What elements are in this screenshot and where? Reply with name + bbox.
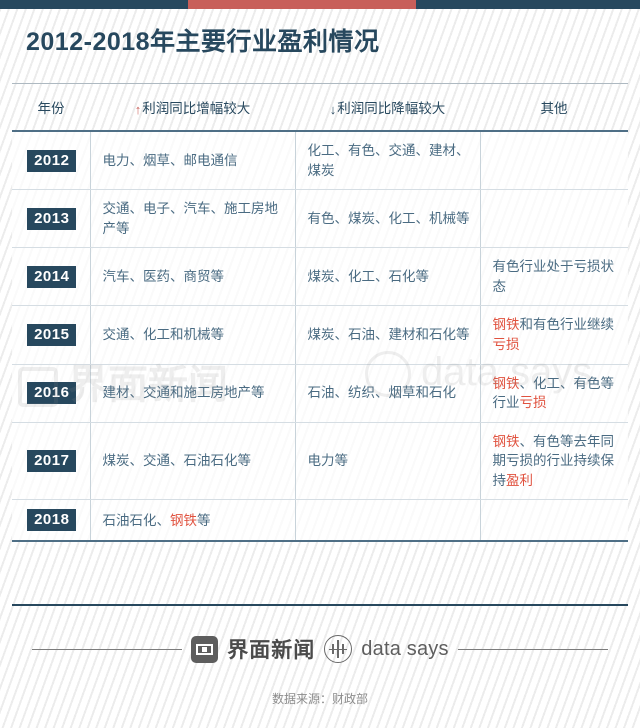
- other-cell: 钢铁、有色等去年同期亏损的行业持续保持盈利: [480, 422, 628, 500]
- increase-cell: 交通、电子、汽车、施工房地产等: [90, 190, 295, 248]
- source-note: 数据来源：财政部: [0, 690, 640, 707]
- cell-text: 和有色行业继续: [520, 317, 615, 332]
- highlighted-term: 亏损: [493, 337, 520, 352]
- column-header-other-label: 其他: [541, 101, 568, 116]
- cell-text: 石油、纺织、烟草和石化: [308, 385, 457, 400]
- year-badge: 2017: [27, 450, 76, 472]
- decrease-cell: 煤炭、化工、石化等: [295, 248, 480, 306]
- arrow-up-icon: ↑: [135, 103, 142, 116]
- year-badge: 2018: [27, 509, 76, 531]
- arrow-down-icon: ↓: [330, 103, 337, 116]
- profitability-table: 年份 ↑利润同比增幅较大 ↓利润同比降幅较大 其他 2012电力、烟草、邮电通信…: [12, 84, 628, 542]
- decrease-cell: 电力等: [295, 422, 480, 500]
- increase-cell: 交通、化工和机械等: [90, 306, 295, 364]
- cell-text: 煤炭、石油、建材和石化等: [308, 327, 470, 342]
- brand-name-cn: 界面新闻: [227, 634, 315, 664]
- table-row: 2012电力、烟草、邮电通信化工、有色、交通、建材、煤炭: [12, 131, 628, 190]
- decrease-cell: 煤炭、石油、建材和石化等: [295, 306, 480, 364]
- year-cell: 2016: [12, 364, 90, 422]
- cell-text: 交通、电子、汽车、施工房地产等: [103, 201, 279, 236]
- year-badge: 2012: [27, 150, 76, 172]
- cell-text: 有色行业处于亏损状态: [493, 259, 615, 294]
- table-header: 年份 ↑利润同比增幅较大 ↓利润同比降幅较大 其他: [12, 84, 628, 131]
- cell-text: 电力、烟草、邮电通信: [103, 153, 238, 168]
- cell-text: 煤炭、化工、石化等: [308, 269, 430, 284]
- table-header-row: 年份 ↑利润同比增幅较大 ↓利润同比降幅较大 其他: [12, 84, 628, 131]
- column-header-year-label: 年份: [38, 101, 65, 116]
- jiemian-logo-icon: [191, 636, 218, 663]
- decrease-cell: [295, 500, 480, 542]
- table-row: 2016建材、交通和施工房地产等石油、纺织、烟草和石化钢铁、化工、有色等行业亏损: [12, 364, 628, 422]
- decrease-cell: 化工、有色、交通、建材、煤炭: [295, 131, 480, 190]
- table-row: 2013交通、电子、汽车、施工房地产等有色、煤炭、化工、机械等: [12, 190, 628, 248]
- table-row: 2017煤炭、交通、石油石化等电力等钢铁、有色等去年同期亏损的行业持续保持盈利: [12, 422, 628, 500]
- cell-text: 煤炭、交通、石油石化等: [103, 453, 252, 468]
- column-header-year: 年份: [12, 84, 90, 131]
- year-badge: 2015: [27, 324, 76, 346]
- other-cell: [480, 500, 628, 542]
- other-cell: 有色行业处于亏损状态: [480, 248, 628, 306]
- highlighted-term: 钢铁: [170, 513, 197, 528]
- highlighted-term: 亏损: [520, 395, 547, 410]
- highlighted-term: 钢铁: [493, 376, 520, 391]
- year-cell: 2012: [12, 131, 90, 190]
- other-cell: 钢铁、化工、有色等行业亏损: [480, 364, 628, 422]
- table-row: 2014汽车、医药、商贸等煤炭、化工、石化等有色行业处于亏损状态: [12, 248, 628, 306]
- column-header-increase-label: 利润同比增幅较大: [142, 101, 250, 116]
- cell-text: 建材、交通和施工房地产等: [103, 385, 265, 400]
- page-title: 2012-2018年主要行业盈利情况: [26, 22, 620, 62]
- year-badge: 2014: [27, 266, 76, 288]
- title-container: 2012-2018年主要行业盈利情况: [26, 22, 620, 70]
- data-says-icon: [324, 635, 352, 663]
- increase-cell: 汽车、医药、商贸等: [90, 248, 295, 306]
- table-row: 2015交通、化工和机械等煤炭、石油、建材和石化等钢铁和有色行业继续亏损: [12, 306, 628, 364]
- highlighted-term: 钢铁: [493, 317, 520, 332]
- increase-cell: 石油石化、钢铁等: [90, 500, 295, 542]
- increase-cell: 建材、交通和施工房地产等: [90, 364, 295, 422]
- footer-brand: 界面新闻 data says: [0, 628, 640, 670]
- year-cell: 2017: [12, 422, 90, 500]
- increase-cell: 电力、烟草、邮电通信: [90, 131, 295, 190]
- cell-text: 有色、煤炭、化工、机械等: [308, 211, 470, 226]
- table-row: 2018石油石化、钢铁等: [12, 500, 628, 542]
- column-header-increase: ↑利润同比增幅较大: [90, 84, 295, 131]
- footer-rule-left: [32, 649, 182, 650]
- top-accent-bar: [0, 0, 640, 9]
- table-body: 2012电力、烟草、邮电通信化工、有色、交通、建材、煤炭2013交通、电子、汽车…: [12, 131, 628, 541]
- year-cell: 2014: [12, 248, 90, 306]
- year-badge: 2013: [27, 208, 76, 230]
- footer-rule-right: [458, 649, 608, 650]
- column-header-other: 其他: [480, 84, 628, 131]
- year-cell: 2013: [12, 190, 90, 248]
- decrease-cell: 石油、纺织、烟草和石化: [295, 364, 480, 422]
- highlighted-term: 钢铁: [493, 434, 520, 449]
- footer-divider: [12, 604, 628, 606]
- decrease-cell: 有色、煤炭、化工、机械等: [295, 190, 480, 248]
- cell-text: 汽车、医药、商贸等: [103, 269, 225, 284]
- other-cell: 钢铁和有色行业继续亏损: [480, 306, 628, 364]
- cell-text: 化工、有色、交通、建材、煤炭: [308, 143, 470, 178]
- cell-text: 交通、化工和机械等: [103, 327, 225, 342]
- other-cell: [480, 190, 628, 248]
- column-header-decrease: ↓利润同比降幅较大: [295, 84, 480, 131]
- infographic-page: 2012-2018年主要行业盈利情况 界面新闻 data says 年份 ↑利润…: [0, 0, 640, 728]
- cell-text: 电力等: [308, 453, 349, 468]
- other-cell: [480, 131, 628, 190]
- column-header-decrease-label: 利润同比降幅较大: [337, 101, 445, 116]
- increase-cell: 煤炭、交通、石油石化等: [90, 422, 295, 500]
- year-badge: 2016: [27, 382, 76, 404]
- year-cell: 2018: [12, 500, 90, 542]
- year-cell: 2015: [12, 306, 90, 364]
- highlighted-term: 盈利: [506, 473, 533, 488]
- brand-name-en: data says: [361, 638, 448, 661]
- cell-text: 等: [197, 513, 211, 528]
- top-accent-highlight: [188, 0, 416, 9]
- cell-text: 石油石化、: [103, 513, 171, 528]
